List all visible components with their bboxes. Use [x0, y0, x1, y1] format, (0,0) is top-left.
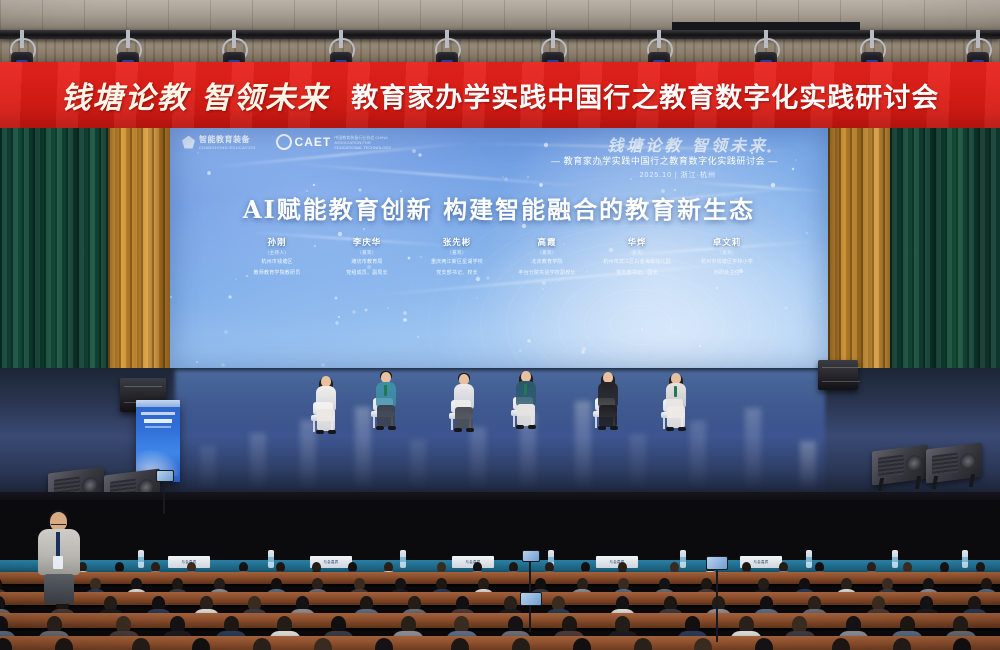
audience-member-head — [314, 638, 332, 650]
audience-area: 与会嘉宾与会嘉宾与会嘉宾与会嘉宾与会嘉宾 — [0, 500, 1000, 650]
floor-reflection — [745, 408, 761, 492]
audience-member-head — [508, 616, 523, 633]
audience-seat-back — [0, 592, 1000, 605]
floor-reflection — [200, 446, 216, 492]
floor-reflection — [630, 434, 646, 492]
water-bottle — [962, 550, 968, 568]
audience-member-head — [132, 638, 150, 650]
floor-reflection — [470, 427, 486, 492]
lighting-truss — [0, 30, 1000, 39]
banner-main-text: 教育家办学实践中国行之教育数字化实践研讨会 — [351, 76, 939, 115]
floor-reflection — [800, 441, 816, 492]
legs — [317, 409, 335, 431]
audience-member-head — [224, 616, 239, 633]
recording-phone-right — [706, 556, 728, 570]
water-bottle — [268, 550, 274, 568]
audience-member-head — [846, 616, 861, 633]
screen-edge-shade — [170, 128, 828, 368]
audience-member-head — [900, 616, 915, 633]
audience-member-head — [562, 616, 577, 633]
placard-text: 与会嘉宾 — [596, 560, 638, 565]
torso — [316, 386, 336, 411]
audience-member-head — [792, 616, 807, 633]
standing-staff-member — [36, 512, 82, 604]
audience-member-head — [331, 616, 346, 633]
audience-member-head — [375, 638, 393, 650]
floor-reflection — [410, 440, 426, 492]
audience-member-head — [401, 616, 416, 633]
audience-member-head — [573, 638, 591, 650]
legs — [455, 407, 473, 429]
floor-reflection — [250, 433, 266, 492]
floor-reflection — [355, 407, 371, 492]
id-badge — [53, 556, 63, 569]
seated-panelist — [450, 374, 478, 436]
torso — [454, 384, 474, 409]
lanyard — [524, 384, 527, 395]
recording-phone-left — [156, 470, 174, 482]
stage-floor-lightwash — [175, 370, 825, 495]
audience-member-head — [832, 638, 850, 650]
audience-member-head — [615, 616, 630, 633]
floor-reflection — [690, 421, 706, 492]
audience-member-head — [685, 616, 700, 633]
lanyard — [384, 385, 387, 396]
banner-brush-text: 钱塘论教 智领未来 — [61, 73, 329, 117]
conference-photo: 钱塘论教 智领未来 教育家办学实践中国行之教育数字化实践研讨会 智能教育装备 C… — [0, 0, 1000, 650]
water-bottle — [892, 550, 898, 568]
seated-panelist — [512, 371, 540, 433]
lanyard — [56, 532, 60, 558]
legs — [599, 405, 617, 427]
water-bottle — [806, 550, 812, 568]
seated-panelist — [662, 373, 690, 435]
legs — [667, 406, 685, 428]
seated-panelist — [594, 372, 622, 434]
legs — [377, 405, 395, 427]
audience-member-head — [277, 616, 292, 633]
legs — [517, 404, 535, 426]
audience-member-head — [454, 616, 469, 633]
water-bottle — [680, 550, 686, 568]
recording-phone-center — [522, 550, 540, 562]
audience-member-head — [893, 638, 911, 650]
seated-panelist — [372, 372, 400, 434]
lanyard — [674, 386, 677, 397]
tripod-right — [716, 566, 718, 642]
flight-case-right — [818, 360, 858, 390]
audience-member-head — [170, 616, 185, 633]
recording-phone-audience — [520, 592, 542, 606]
seated-panelist — [312, 376, 340, 438]
torso — [598, 382, 618, 407]
tripod-left — [163, 480, 165, 514]
audience-member-head — [116, 616, 131, 633]
seat-row-shadow — [0, 605, 1000, 607]
audience-seat-back — [0, 636, 1000, 650]
water-bottle — [138, 550, 144, 568]
audience-member-head — [953, 616, 968, 633]
water-bottle — [400, 550, 406, 568]
audience-member-head — [55, 638, 73, 650]
audience-member-head — [47, 616, 62, 633]
audience-member-head — [634, 638, 652, 650]
podium-top — [136, 400, 180, 407]
red-banner: 钱塘论教 智领未来 教育家办学实践中国行之教育数字化实践研讨会 — [0, 62, 1000, 128]
eyeglasses — [51, 520, 66, 525]
floor-reflection — [575, 401, 591, 492]
audience-member-head — [739, 616, 754, 633]
